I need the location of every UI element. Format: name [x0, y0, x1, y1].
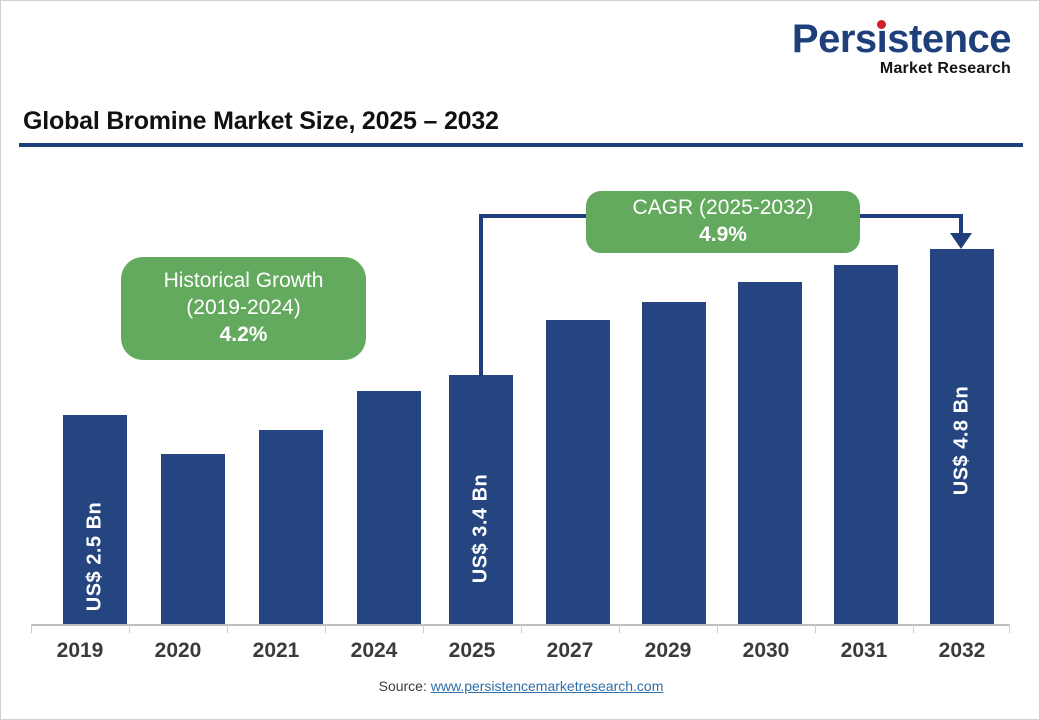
- x-axis-tick: [325, 624, 326, 633]
- x-label-2024: 2024: [326, 639, 422, 663]
- cagr-connector-vertical-start: [479, 214, 483, 377]
- source-line: Source: www.persistencemarketresearch.co…: [1, 678, 1040, 694]
- bar-2027[interactable]: [546, 320, 610, 624]
- x-axis-tick: [815, 624, 816, 633]
- cagr-value: 4.9%: [699, 222, 747, 249]
- source-prefix: Source:: [379, 678, 431, 694]
- x-label-2019: 2019: [32, 639, 128, 663]
- x-label-2030: 2030: [718, 639, 814, 663]
- cagr-callout: CAGR (2025-2032) 4.9%: [586, 191, 860, 253]
- bar-2030[interactable]: [738, 282, 802, 624]
- x-label-2025: 2025: [424, 639, 520, 663]
- bar-value-label-2019: US$ 2.5 Bn: [84, 502, 107, 611]
- x-axis-tick: [129, 624, 130, 633]
- chart-page: Persistence Market Research Global Bromi…: [0, 0, 1040, 720]
- bar-2020[interactable]: [161, 454, 225, 624]
- x-axis-tick: [31, 624, 32, 633]
- x-label-2021: 2021: [228, 639, 324, 663]
- bar-2024[interactable]: [357, 391, 421, 624]
- x-label-2027: 2027: [522, 639, 618, 663]
- bar-chart: US$ 2.5 Bn US$ 3.4 Bn US$ 4.8 Bn Histori…: [1, 1, 1040, 720]
- historical-growth-callout: Historical Growth (2019-2024) 4.2%: [121, 257, 366, 360]
- historical-growth-line1: Historical Growth: [164, 268, 324, 295]
- x-label-2031: 2031: [816, 639, 912, 663]
- bar-2029[interactable]: [642, 302, 706, 624]
- bar-2021[interactable]: [259, 430, 323, 624]
- bar-2031[interactable]: [834, 265, 898, 624]
- x-axis-tick: [423, 624, 424, 633]
- historical-growth-value: 4.2%: [220, 322, 268, 349]
- x-axis-tick: [717, 624, 718, 633]
- arrow-down-icon: [950, 233, 972, 249]
- bar-2032[interactable]: US$ 4.8 Bn: [930, 249, 994, 624]
- source-link[interactable]: www.persistencemarketresearch.com: [431, 678, 664, 694]
- bar-value-label-2032: US$ 4.8 Bn: [951, 386, 974, 495]
- historical-growth-line2: (2019-2024): [186, 295, 300, 322]
- x-axis-tick: [1009, 624, 1010, 633]
- x-axis-tick: [521, 624, 522, 633]
- x-label-2029: 2029: [620, 639, 716, 663]
- x-axis-tick: [619, 624, 620, 633]
- cagr-line1: CAGR (2025-2032): [633, 195, 814, 222]
- x-label-2032: 2032: [914, 639, 1010, 663]
- x-label-2020: 2020: [130, 639, 226, 663]
- bar-2025[interactable]: US$ 3.4 Bn: [449, 375, 513, 624]
- x-axis-line: [31, 624, 1009, 626]
- bar-2019[interactable]: US$ 2.5 Bn: [63, 415, 127, 624]
- x-axis-tick: [227, 624, 228, 633]
- x-axis-tick: [913, 624, 914, 633]
- bar-value-label-2025: US$ 3.4 Bn: [470, 474, 493, 583]
